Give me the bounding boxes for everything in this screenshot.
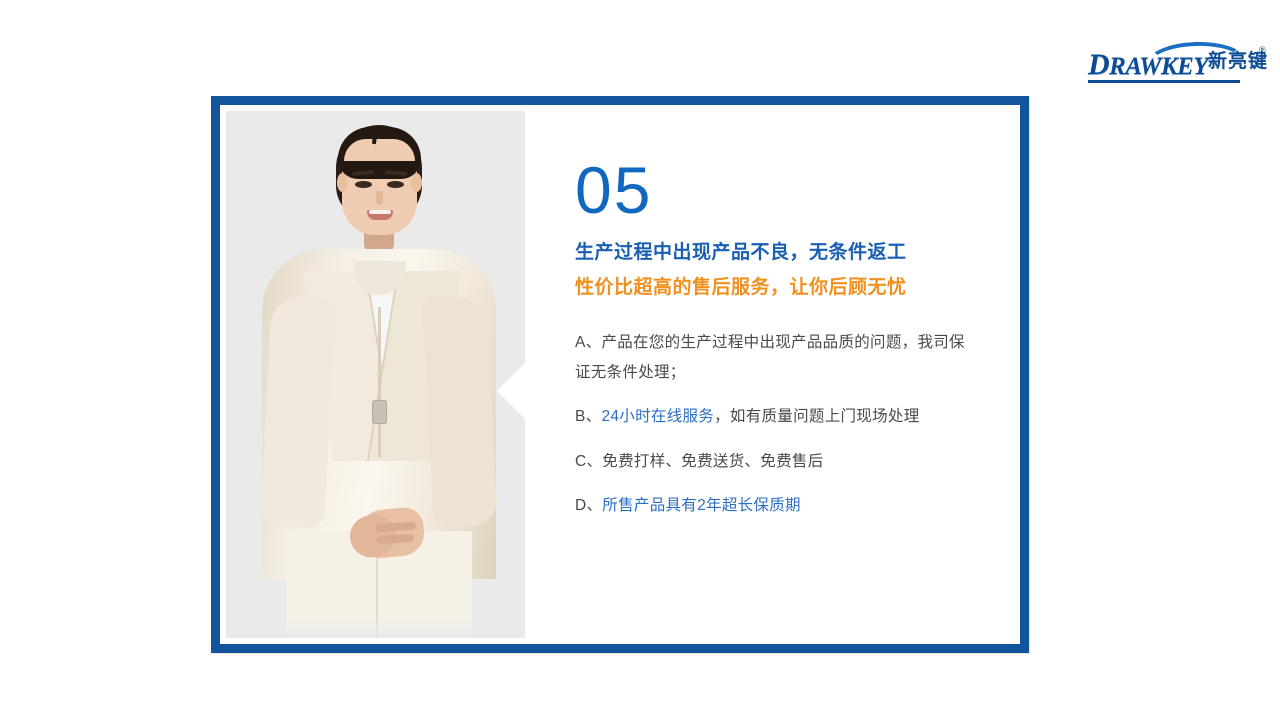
bullet-marker: D、 bbox=[575, 497, 602, 514]
portrait-photo-panel bbox=[226, 111, 525, 638]
logo-wordmark-cap: D bbox=[1088, 48, 1109, 81]
bullet-text: ，如有质量问题上门现场处理 bbox=[714, 408, 919, 425]
list-item: A、产品在您的生产过程中出现产品品质的问题，我司保证无条件处理； bbox=[575, 328, 980, 388]
logo-wordmark-rest: RAWKEY bbox=[1109, 53, 1208, 80]
bullet-highlight: 24小时在线服务 bbox=[601, 408, 714, 425]
bullet-marker: A、 bbox=[575, 334, 601, 351]
bullet-highlight: 所售产品具有2年超长保质期 bbox=[602, 497, 801, 514]
headline-secondary: 性价比超高的售后服务，让你后顾无忧 bbox=[575, 274, 980, 303]
headline-primary: 生产过程中出现产品不良，无条件返工 bbox=[575, 239, 980, 268]
bullet-marker: B、 bbox=[575, 408, 601, 425]
panel-arrow-notch-icon bbox=[497, 363, 525, 419]
content-card: 05 生产过程中出现产品不良，无条件返工 性价比超高的售后服务，让你后顾无忧 A… bbox=[211, 96, 1029, 653]
text-content-panel: 05 生产过程中出现产品不良，无条件返工 性价比超高的售后服务，让你后顾无忧 A… bbox=[525, 111, 1014, 638]
bullet-text: 免费打样、免费送货、免费售后 bbox=[602, 453, 823, 470]
logo-wordmark: DRAWKEY bbox=[1088, 50, 1208, 80]
registered-trademark-icon: ® bbox=[1259, 46, 1266, 55]
logo-underline bbox=[1088, 80, 1240, 83]
brand-logo: DRAWKEY 新亮键 ® bbox=[1088, 40, 1264, 86]
list-item: C、免费打样、免费送货、免费售后 bbox=[575, 447, 980, 477]
list-item: B、24小时在线服务，如有质量问题上门现场处理 bbox=[575, 402, 980, 432]
bullet-list: A、产品在您的生产过程中出现产品品质的问题，我司保证无条件处理； B、24小时在… bbox=[575, 328, 980, 521]
bullet-marker: C、 bbox=[575, 453, 602, 470]
section-number: 05 bbox=[575, 157, 980, 223]
list-item: D、所售产品具有2年超长保质期 bbox=[575, 491, 980, 521]
bullet-text: 产品在您的生产过程中出现产品品质的问题，我司保证无条件处理； bbox=[575, 334, 965, 381]
card-inner-frame: 05 生产过程中出现产品不良，无条件返工 性价比超高的售后服务，让你后顾无忧 A… bbox=[220, 105, 1020, 644]
